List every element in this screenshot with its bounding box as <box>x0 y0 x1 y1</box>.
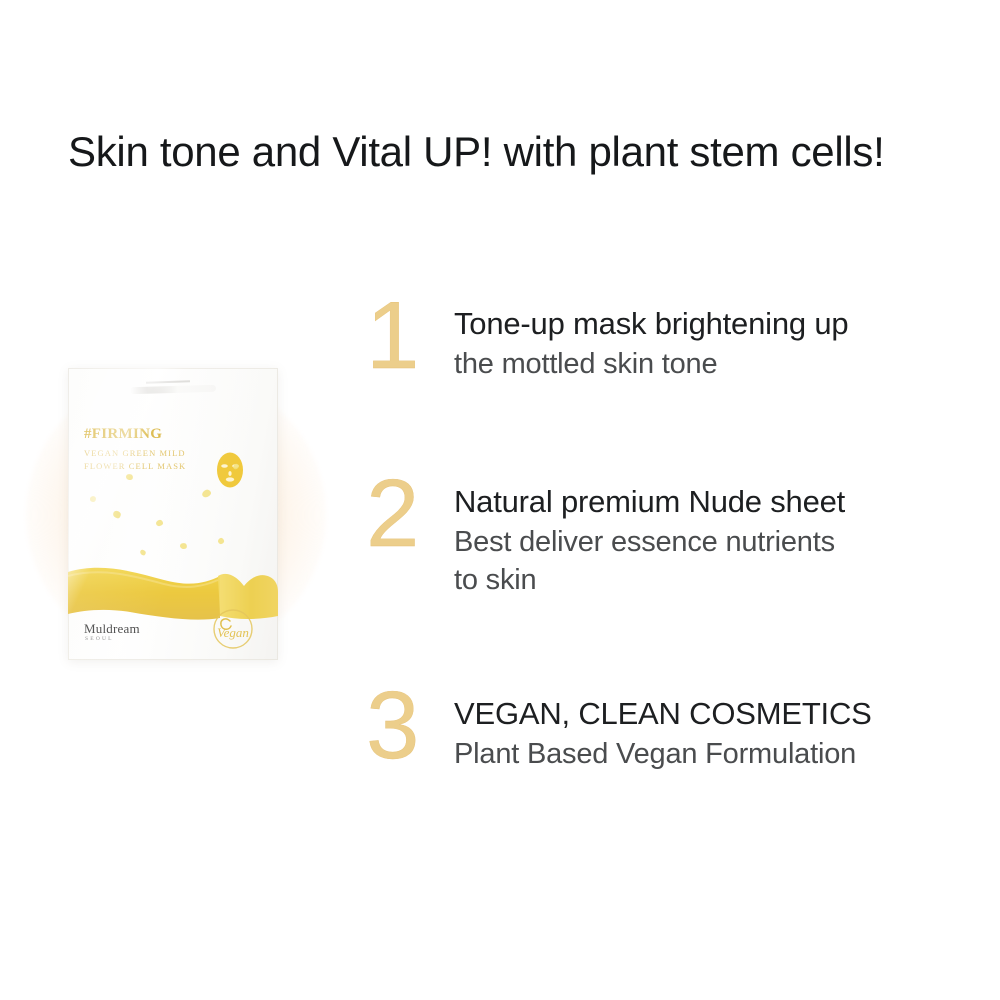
feature-title: Tone-up mask brightening up <box>454 304 848 345</box>
pack-hashtag: #FIRMING <box>84 426 162 443</box>
feature-item: 3 VEGAN, CLEAN COSMETICS Plant Based Veg… <box>358 682 872 773</box>
feature-desc-line: to skin <box>454 561 845 600</box>
feature-item: 1 Tone-up mask brightening up the mottle… <box>358 292 848 383</box>
feature-title: VEGAN, CLEAN COSMETICS <box>454 694 872 735</box>
tear-line-icon <box>146 380 190 384</box>
petal-icon <box>155 519 163 526</box>
petal-icon <box>125 473 134 481</box>
feature-item: 2 Natural premium Nude sheet Best delive… <box>358 470 845 600</box>
tear-notch-icon <box>130 385 216 394</box>
petal-icon <box>201 488 212 498</box>
face-sheet-mask-icon <box>214 450 246 490</box>
petal-icon <box>179 542 187 550</box>
page-title: Skin tone and Vital UP! with plant stem … <box>68 128 968 176</box>
feature-desc-line: Best deliver essence nutrients <box>454 523 845 562</box>
feature-desc-line: the mottled skin tone <box>454 345 848 384</box>
brand-sublabel: SEOUL <box>85 636 114 642</box>
pack-subtitle-line1: VEGAN GREEN MILD <box>84 448 186 458</box>
feature-number: 3 <box>358 682 454 770</box>
feature-number: 1 <box>358 292 454 380</box>
promo-canvas: Skin tone and Vital UP! with plant stem … <box>0 0 1000 1000</box>
pack-subtitle-line2: FLOWER CELL MASK <box>84 461 186 471</box>
petal-icon <box>217 537 225 545</box>
feature-text: Tone-up mask brightening up the mottled … <box>454 292 848 383</box>
feature-title: Natural premium Nude sheet <box>454 482 845 523</box>
feature-text: VEGAN, CLEAN COSMETICS Plant Based Vegan… <box>454 682 872 773</box>
brand-logo: Muldream <box>84 621 140 637</box>
product-image: #FIRMING VEGAN GREEN MILD FLOWER CELL MA… <box>18 360 338 680</box>
svg-text:Vegan: Vegan <box>217 625 249 640</box>
feature-number: 2 <box>358 470 454 558</box>
petal-icon <box>89 495 97 503</box>
product-pouch: #FIRMING VEGAN GREEN MILD FLOWER CELL MA… <box>68 368 278 660</box>
feature-text: Natural premium Nude sheet Best deliver … <box>454 470 845 600</box>
feature-desc-line: Plant Based Vegan Formulation <box>454 735 872 774</box>
vegan-badge-icon: Vegan <box>206 604 260 654</box>
petal-icon <box>112 509 123 520</box>
